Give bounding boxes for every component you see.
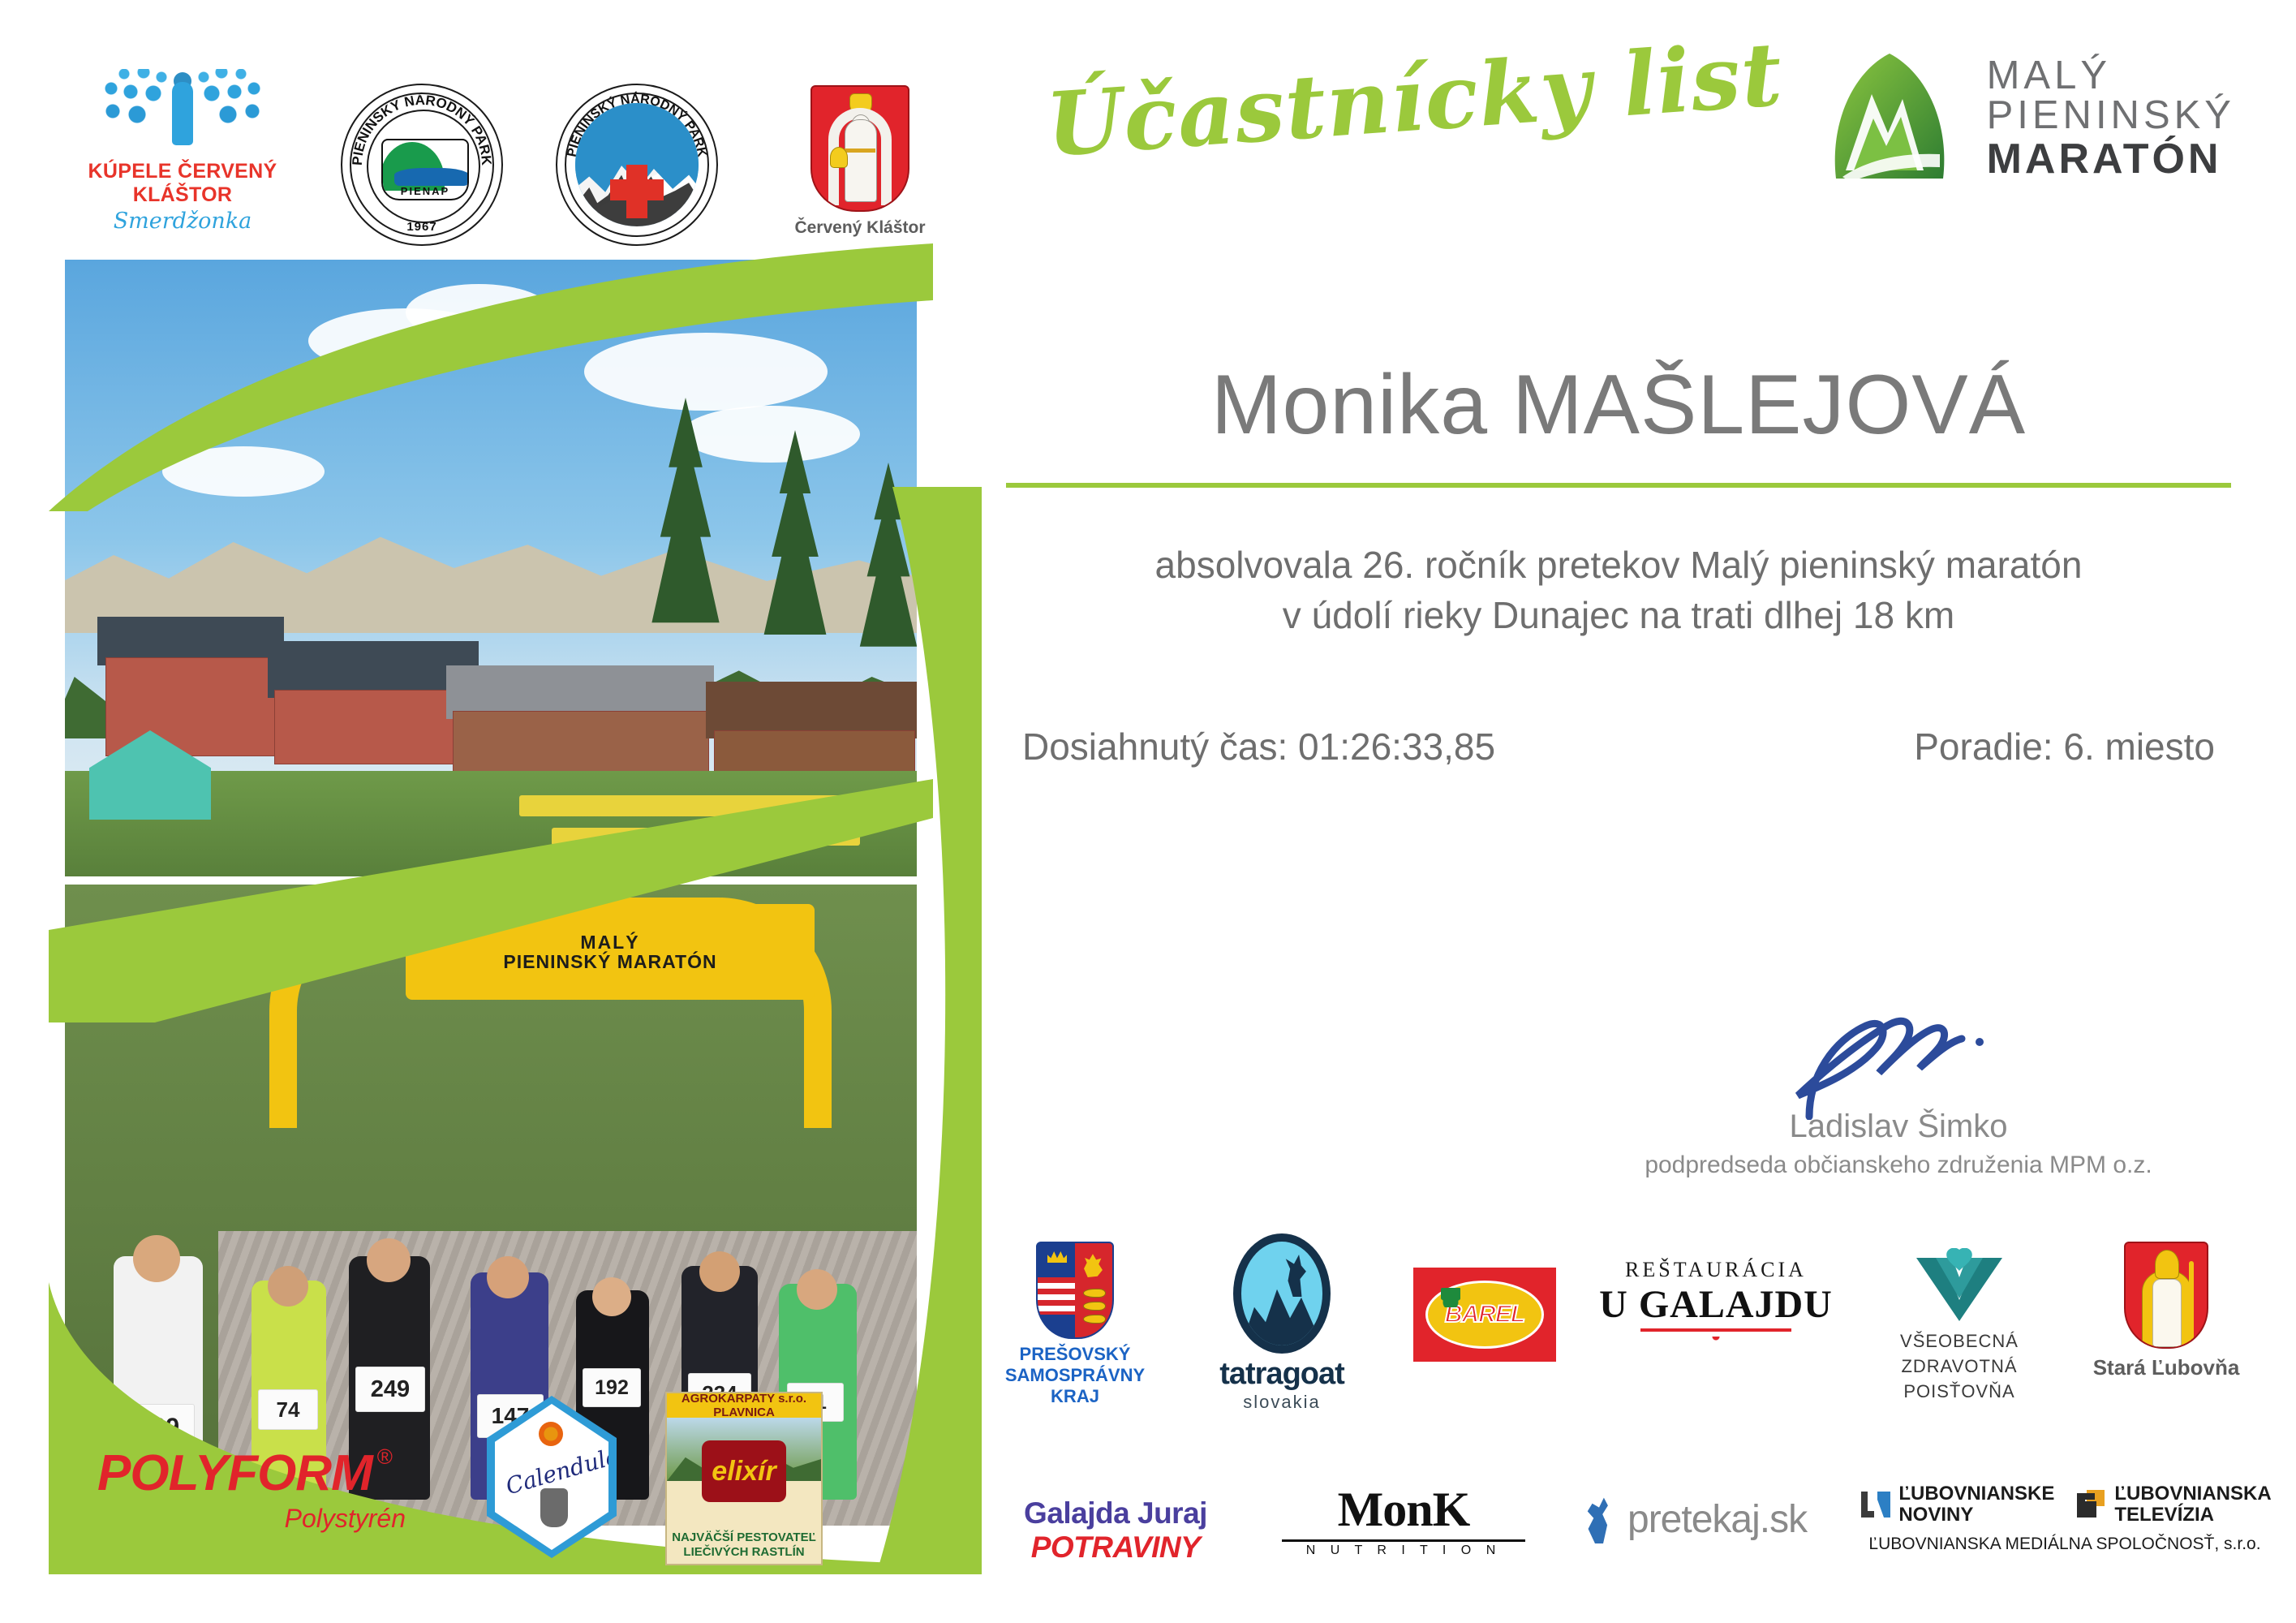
certificate-title: Účastnícky list [1043, 24, 1786, 177]
polyform-sub: Polystyrén [97, 1504, 406, 1534]
galajda-line2: POTRAVINY [982, 1530, 1249, 1565]
ltv-line2: TELEVÍZIA [2114, 1505, 2271, 1526]
brand-line1: MALÝ [1987, 56, 2235, 96]
coat-of-arms-icon [810, 85, 909, 212]
pretekaj-name: pretekaj.sk [1627, 1497, 1807, 1542]
elixir-label-icon: AGROKARPATY s.r.o. PLAVNICA elixír NAJVÄ… [665, 1392, 823, 1565]
sponsor-galajda-juraj: Galajda Juraj POTRAVINY [982, 1496, 1249, 1565]
tatragoat-icon [1233, 1233, 1331, 1354]
ugalajdu-top: REŠTAURÁCIA [1590, 1258, 1842, 1282]
finish-time: Dosiahnutý čas: 01:26:33,85 [1022, 725, 1495, 768]
ln-logo-icon [1858, 1488, 1892, 1521]
handwritten-signature-icon [1566, 998, 2231, 1120]
photo-collage: MALÝ PIENINSKÝ MARATÓN 209 74 249 147 19… [49, 243, 933, 1574]
sponsor-row-left: POLYFORM ® Polystyrén Calendula AGROKARP… [97, 1388, 917, 1591]
logo-kupele-line2: Smerdžonka [77, 209, 288, 234]
stara-lubovna-coat-of-arms-icon [2124, 1242, 2208, 1349]
tatragoat-name: tatragoat [1185, 1357, 1379, 1392]
folk-ornament-icon [1643, 1337, 1789, 1379]
ln-line1: ĽUBOVNIANSKE [1898, 1483, 2054, 1505]
logo-cerveny-klastor-coat-of-arms: Červený Kláštor [759, 85, 961, 238]
sponsor-row-secondary: Galajda Juraj POTRAVINY MonK N U T R I T… [982, 1477, 2264, 1607]
logo-pienap: PIENINSKÝ NÁRODNÝ PARK PIENAP 1967 [320, 84, 523, 246]
description-line-2: v údolí rieky Dunajec na trati dlhej 18 … [998, 590, 2239, 640]
sponsor-barel: BAREL [1404, 1268, 1566, 1362]
sponsor-tatragoat: tatragoat slovakia [1185, 1233, 1379, 1413]
pienap-year: 1967 [342, 220, 501, 234]
logo-horska-sluzba: PIENINSKÝ NÁRODNÝ PARK HORSKÁ SLUŽBA [535, 84, 738, 246]
galajda-line1: Galajda Juraj [982, 1496, 1249, 1530]
lubovnianska-caption: ĽUBOVNIANSKA MEDIÁLNA SPOLOČNOSŤ, s.r.o. [1866, 1535, 2264, 1554]
mortar-icon [540, 1488, 568, 1527]
svg-text:HORSKÁ SLUŽBA: HORSKÁ SLUŽBA [587, 192, 688, 227]
ltv-logo-icon [2074, 1488, 2108, 1521]
stara-lubovna-caption: Stará Ľubovňa [2077, 1355, 2255, 1380]
runner-head [797, 1269, 837, 1310]
ltv-line1: ĽUBOVNIANSKA [2114, 1483, 2271, 1505]
partner-logo-strip: KÚPELE ČERVENÝ KLÁŠTOR Smerdžonka PIENIN… [77, 45, 961, 239]
mpm-brand: MALÝ PIENINSKÝ MARATÓN [1821, 49, 2235, 187]
arch-banner: MALÝ PIENINSKÝ MARATÓN [406, 904, 815, 1001]
elixir-name: elixír [712, 1456, 776, 1487]
flower-icon [539, 1422, 563, 1446]
signature-block: Ladislav Šimko podpredseda občianskeho z… [1566, 998, 2231, 1179]
runner-head [268, 1266, 308, 1307]
polyform-name: POLYFORM [97, 1444, 372, 1502]
sponsor-presovsky-kraj: PREŠOVSKÝ SAMOSPRÁVNY KRAJ [982, 1242, 1168, 1407]
elixir-bottom-line1: NAJVÄČŠÍ PESTOVATEĽ [667, 1530, 821, 1546]
sponsor-calendula: Calendula [487, 1396, 625, 1558]
sponsor-stara-lubovna: Stará Ľubovňa [2077, 1242, 2255, 1380]
registered-mark-icon: ® [377, 1444, 393, 1470]
signatory-role: podpredseda občianskeho združenia MPM o.… [1566, 1152, 2231, 1179]
vszp-caption: VŠEOBECNÁ ZDRAVOTNÁ POISŤOVŇA [1866, 1329, 2053, 1404]
sponsor-pretekaj-sk[interactable]: pretekaj.sk [1582, 1495, 1874, 1543]
arch-banner-line1: MALÝ [580, 932, 639, 952]
results-row: Dosiahnutý čas: 01:26:33,85 Poradie: 6. … [998, 725, 2239, 768]
psk-coat-of-arms-icon [1036, 1242, 1114, 1339]
venue-photo [65, 260, 917, 876]
sponsor-monk-nutrition: MonK N U T R I T I O N [1282, 1482, 1525, 1558]
sponsor-polyform: POLYFORM ® Polystyrén [97, 1444, 438, 1534]
svg-text:PIENINSKÝ NÁRODNÝ PARK: PIENINSKÝ NÁRODNÝ PARK [565, 91, 709, 158]
monk-name: MonK [1282, 1482, 1525, 1538]
ugalajdu-rule [1640, 1328, 1791, 1332]
description-line-1: absolvovala 26. ročník pretekov Malý pie… [998, 540, 2239, 590]
ln-line2: NOVINY [1898, 1505, 2054, 1526]
logo-kupele-line1: KÚPELE ČERVENÝ KLÁŠTOR [77, 160, 288, 207]
elixir-bottom-line2: LIEČIVÝCH RASTLÍN [667, 1545, 821, 1561]
brand-line2: PIENINSKÝ [1987, 96, 2235, 136]
monk-sub: N U T R I T I O N [1282, 1543, 1525, 1558]
vszp-icon [1907, 1248, 2012, 1323]
angel-icon [77, 53, 288, 158]
monk-rule [1282, 1539, 1525, 1542]
runner-head [592, 1277, 631, 1316]
accent-rule [1006, 483, 2231, 488]
calendula-icon: Calendula [487, 1396, 617, 1558]
placement: Poradie: 6. miesto [1914, 725, 2215, 768]
svg-text:PIENINSKÝ NÁRODNÝ PARK: PIENINSKÝ NÁRODNÝ PARK [350, 93, 494, 166]
sponsor-u-galajdu: REŠTAURÁCIA U GALAJDU [1590, 1258, 1842, 1379]
runner-head [133, 1235, 180, 1282]
brand-line3: MARATÓN [1987, 138, 2235, 180]
elixir-top-text: AGROKARPATY s.r.o. PLAVNICA [667, 1393, 821, 1418]
recipient-name: Monika MAŠLEJOVÁ [998, 357, 2239, 454]
certificate-description: absolvovala 26. ročník pretekov Malý pie… [998, 540, 2239, 640]
clover-icon [1441, 1288, 1460, 1307]
ugalajdu-name: U GALAJDU [1590, 1282, 1842, 1327]
tatragoat-sub: slovakia [1185, 1392, 1379, 1413]
barel-icon: BAREL [1413, 1268, 1556, 1362]
sponsor-lubovnianska-medialna: ĽUBOVNIANSKE NOVINY ĽUBOVNIANSKA TELEVÍZ… [1866, 1483, 2264, 1554]
logo-kupele-cerveny-klastor: KÚPELE ČERVENÝ KLÁŠTOR Smerdžonka [77, 53, 288, 234]
mpm-leaf-mountain-icon [1821, 49, 1959, 187]
sponsor-agrokarpaty-elixir: AGROKARPATY s.r.o. PLAVNICA elixír NAJVÄ… [665, 1392, 828, 1565]
horska-sluzba-roundel-icon: PIENINSKÝ NÁRODNÝ PARK HORSKÁ SLUŽBA [556, 84, 718, 246]
sponsor-row-primary: PREŠOVSKÝ SAMOSPRÁVNY KRAJ tatragoat slo… [982, 1233, 2255, 1444]
runner-head [487, 1256, 529, 1298]
certificate-body: Monika MAŠLEJOVÁ absolvovala 26. ročník … [998, 357, 2239, 768]
runner-head [699, 1251, 740, 1292]
pienap-inner-word: PIENAP [383, 185, 467, 197]
sponsor-vszp: VŠEOBECNÁ ZDRAVOTNÁ POISŤOVŇA [1866, 1248, 2053, 1404]
runner-head [367, 1238, 411, 1282]
psk-caption: PREŠOVSKÝ SAMOSPRÁVNY KRAJ [982, 1344, 1168, 1407]
logo-coa-label: Červený Kláštor [759, 218, 961, 238]
pienap-roundel-icon: PIENINSKÝ NÁRODNÝ PARK PIENAP 1967 [341, 84, 503, 246]
runner-icon [1582, 1495, 1616, 1543]
arch-banner-line2: PIENINSKÝ MARATÓN [503, 952, 716, 971]
